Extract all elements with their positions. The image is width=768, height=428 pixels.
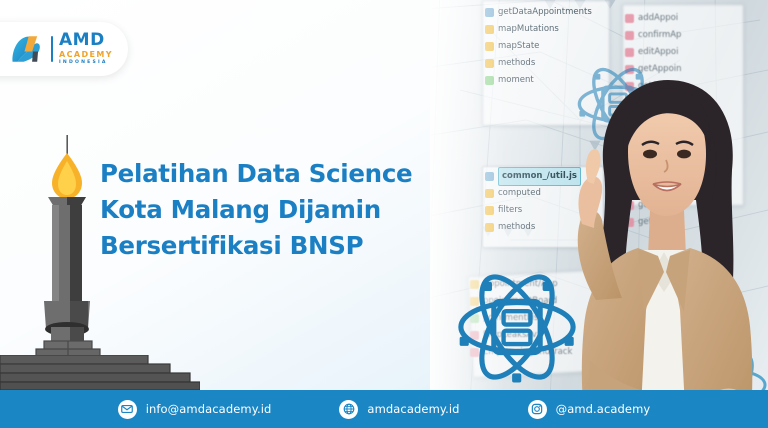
code-item: mapState [498, 38, 539, 55]
code-item: computed [498, 185, 541, 202]
headline-line-3: Bersertifikasi BNSP [100, 228, 430, 264]
code-item: confirmAp [638, 27, 681, 44]
contact-email-label: info@amdacademy.id [146, 402, 272, 416]
list-bullet-icon [485, 76, 494, 85]
list-bullet-icon [485, 8, 494, 17]
code-item: mapMutations [498, 21, 559, 38]
headline-line-2: Kota Malang Dijamin [100, 192, 430, 228]
list-bullet-icon [625, 31, 634, 40]
list-bullet-icon [485, 189, 494, 198]
contact-instagram-label: @amd.academy [556, 402, 651, 416]
list-bullet-icon [485, 206, 494, 215]
list-bullet-icon [485, 25, 494, 34]
page-title: Pelatihan Data Science Kota Malang Dijam… [100, 156, 430, 264]
globe-icon [339, 400, 358, 419]
logo-subtitle: ACADEMY [59, 51, 113, 59]
logo-wordmark: AMD ACADEMY INDONESIA [59, 32, 113, 66]
code-item: getDataAppointments [498, 4, 592, 21]
code-item: methods [498, 219, 535, 236]
list-bullet-icon [625, 14, 634, 23]
code-item: editAppoi [638, 44, 679, 61]
list-bullet-icon [625, 48, 634, 57]
code-item: moment [498, 72, 534, 89]
code-item: filters [498, 202, 522, 219]
smiling-woman-pointing [560, 60, 768, 428]
monument-base-steps [0, 355, 200, 395]
contact-website[interactable]: amdacademy.id [339, 400, 459, 419]
code-item: addAppoi [638, 10, 678, 27]
instagram-icon [528, 400, 547, 419]
amd-a-mark-icon [10, 34, 44, 64]
contact-instagram[interactable]: @amd.academy [528, 400, 651, 419]
logo-divider [51, 36, 53, 62]
list-bullet-icon [485, 172, 494, 181]
logo-name: AMD [59, 32, 113, 49]
contact-footer-bar: info@amdacademy.id amdacademy.id [0, 390, 768, 428]
list-bullet-icon [485, 223, 494, 232]
promo-banner: getDataAppointments mapMutations mapStat… [0, 0, 768, 428]
contact-website-label: amdacademy.id [367, 402, 459, 416]
brand-logo-card[interactable]: AMD ACADEMY INDONESIA [0, 22, 128, 76]
list-bullet-icon [485, 59, 494, 68]
contact-email[interactable]: info@amdacademy.id [118, 400, 272, 419]
envelope-icon [118, 400, 137, 419]
logo-region: INDONESIA [59, 61, 113, 66]
code-item: methods [498, 55, 535, 72]
list-bullet-icon [485, 42, 494, 51]
headline-line-1: Pelatihan Data Science [100, 156, 430, 192]
